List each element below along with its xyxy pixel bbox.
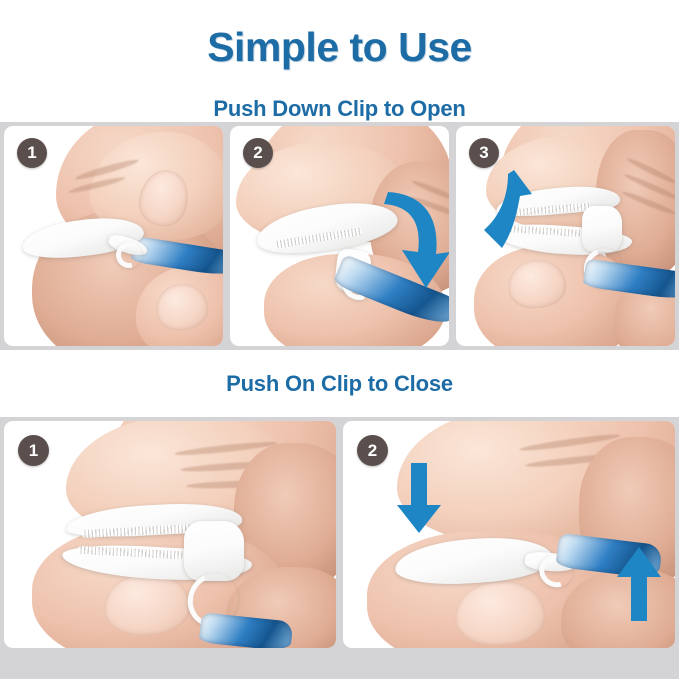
step-badge: 1	[17, 138, 47, 168]
infographic-root: Simple to Use Push Down Clip to Open	[0, 0, 679, 679]
section-heading-open: Push Down Clip to Open	[0, 96, 679, 122]
step-panel-close-2[interactable]: 2	[343, 421, 675, 648]
title-block: Simple to Use	[0, 0, 679, 69]
photo-close-1	[4, 421, 336, 648]
footer-strip	[0, 652, 679, 679]
arrow-curved-down-icon	[378, 184, 449, 296]
step-badge: 1	[18, 435, 49, 466]
step-badge: 2	[243, 138, 273, 168]
steps-row-open: 1 2	[0, 122, 679, 350]
arrow-up-icon	[615, 547, 663, 623]
step-badge: 2	[357, 435, 388, 466]
step-panel-open-2[interactable]: 2	[230, 126, 449, 346]
section-heading-close: Push On Clip to Close	[0, 350, 679, 417]
clip-pivot	[582, 206, 622, 252]
step-panel-open-3[interactable]: 3	[456, 126, 675, 346]
arrow-up-icon	[478, 168, 534, 250]
arrow-down-icon	[395, 463, 443, 535]
step-panel-close-1[interactable]: 1	[4, 421, 336, 648]
steps-row-close: 1	[0, 417, 679, 652]
photo-close-2	[343, 421, 675, 648]
step-badge: 3	[469, 138, 499, 168]
step-panel-open-1[interactable]: 1	[4, 126, 223, 346]
page-title: Simple to Use	[0, 26, 679, 69]
